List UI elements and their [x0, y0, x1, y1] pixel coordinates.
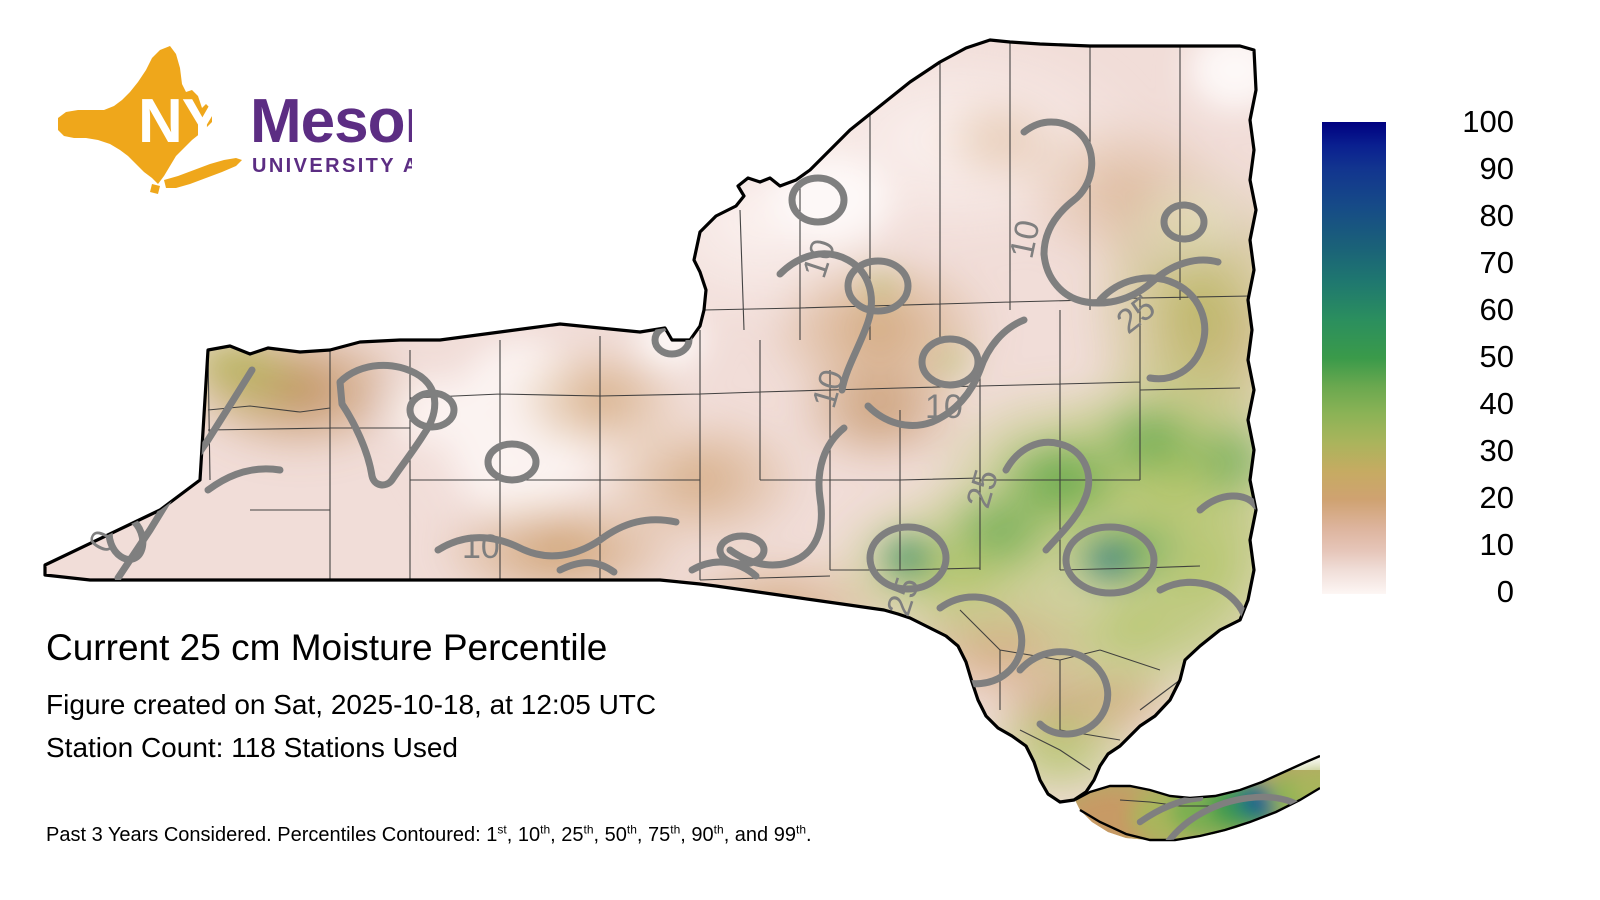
footnote-prefix: Past 3 Years Considered. Percentiles Con… [46, 824, 486, 846]
footnote-separator: , [680, 824, 691, 846]
colorbar-tick-100: 100 [1396, 106, 1514, 137]
figure-footnote: Past 3 Years Considered. Percentiles Con… [46, 822, 812, 848]
footnote-separator: , [594, 824, 605, 846]
footnote-percentile-value: 90 [691, 824, 713, 846]
footnote-separator: , [550, 824, 561, 846]
footnote-separator: , [507, 824, 518, 846]
footnote-percentile-list: 1st, 10th, 25th, 50th, 75th, 90th, and 9… [486, 824, 811, 846]
footnote-separator: , [637, 824, 648, 846]
figure-title: Current 25 cm Moisture Percentile [46, 626, 1046, 670]
footnote-ordinal-suffix: th [714, 822, 724, 836]
footnote-ordinal-suffix: th [584, 822, 594, 836]
footnote-ordinal-suffix: th [796, 822, 806, 836]
footnote-percentile-value: 25 [561, 824, 583, 846]
colorbar-tick-60: 60 [1396, 294, 1514, 325]
footnote-percentile-value: 99 [774, 824, 796, 846]
footnote-separator: . [806, 824, 812, 846]
footnote-percentile-value: 1 [486, 824, 497, 846]
caption-block: Current 25 cm Moisture Percentile Figure… [46, 626, 1046, 774]
figure-canvas: NYS Mesonet UNIVERSITY AT ALBANY [0, 0, 1600, 900]
colorbar-tick-50: 50 [1396, 341, 1514, 372]
station-count-line: Station Count: 118 Stations Used [46, 731, 1046, 765]
colorbar-tick-90: 90 [1396, 153, 1514, 184]
contour-label-10-e: 10 [1003, 217, 1048, 262]
footnote-ordinal-suffix: th [627, 822, 637, 836]
contour-label-10-a: 10 [462, 528, 500, 566]
colorbar-tick-20: 20 [1396, 482, 1514, 513]
footnote-percentile-value: 75 [648, 824, 670, 846]
figure-created-line: Figure created on Sat, 2025-10-18, at 12… [46, 688, 1046, 722]
colorbar-tick-0: 0 [1396, 576, 1514, 607]
footnote-percentile-value: 50 [605, 824, 627, 846]
colorbar-tick-40: 40 [1396, 388, 1514, 419]
colorbar-tick-70: 70 [1396, 247, 1514, 278]
colorbar-gradient [1322, 122, 1386, 594]
contour-label-10-d: 10 [925, 388, 963, 426]
colorbar-tick-30: 30 [1396, 435, 1514, 466]
colorbar-tick-80: 80 [1396, 200, 1514, 231]
footnote-percentile-value: 10 [518, 824, 540, 846]
footnote-separator: , and [724, 824, 774, 846]
colorbar-tick-10: 10 [1396, 529, 1514, 560]
footnote-ordinal-suffix: th [670, 822, 680, 836]
colorbar-tick-labels: 100 90 80 70 60 50 40 30 20 10 0 [1396, 110, 1546, 620]
footnote-ordinal-suffix: th [540, 822, 550, 836]
footnote-ordinal-suffix: st [497, 822, 506, 836]
colorbar: 100 90 80 70 60 50 40 30 20 10 0 [1310, 110, 1550, 620]
